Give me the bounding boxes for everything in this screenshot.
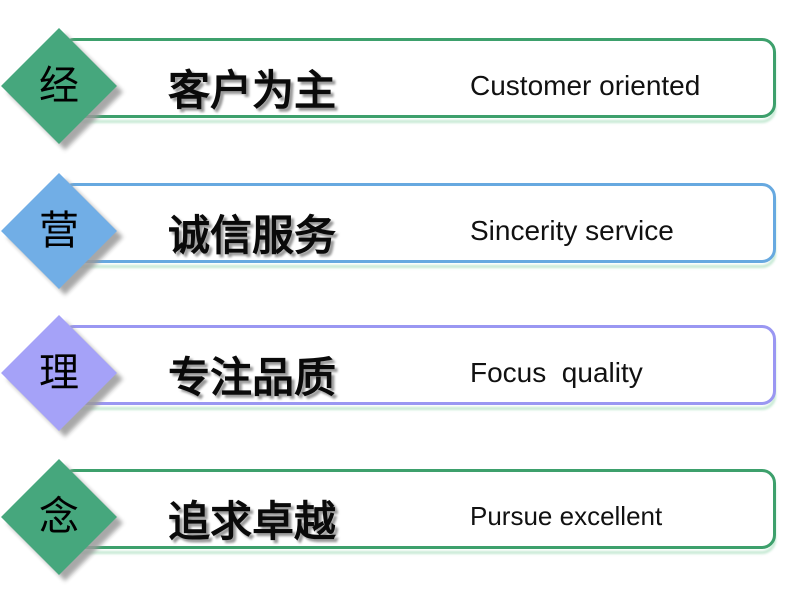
chinese-phrase: 追求卓越	[168, 488, 458, 548]
diamond-badge-label: 理	[39, 353, 79, 393]
english-phrase: Pursue excellent	[470, 494, 770, 539]
slide-canvas: 经 客户为主 Customer oriented 营 诚信服务 Sincerit…	[0, 0, 800, 600]
diamond-badge-label: 念	[39, 497, 79, 537]
diamond-badge-label: 经	[39, 66, 79, 106]
chinese-phrase: 诚信服务	[168, 202, 458, 262]
principle-row[interactable]: 营 诚信服务 Sincerity service	[0, 170, 800, 300]
english-phrase: Focus quality	[470, 350, 770, 395]
english-phrase: Sincerity service	[470, 208, 770, 253]
english-phrase: Customer oriented	[470, 63, 770, 108]
diamond-badge-label: 营	[39, 211, 79, 251]
chinese-phrase: 客户为主	[168, 57, 458, 117]
principle-row[interactable]: 理 专注品质 Focus quality	[0, 312, 800, 442]
principle-row[interactable]: 念 追求卓越 Pursue excellent	[0, 456, 800, 586]
chinese-phrase: 专注品质	[168, 344, 458, 404]
principle-row[interactable]: 经 客户为主 Customer oriented	[0, 25, 800, 155]
